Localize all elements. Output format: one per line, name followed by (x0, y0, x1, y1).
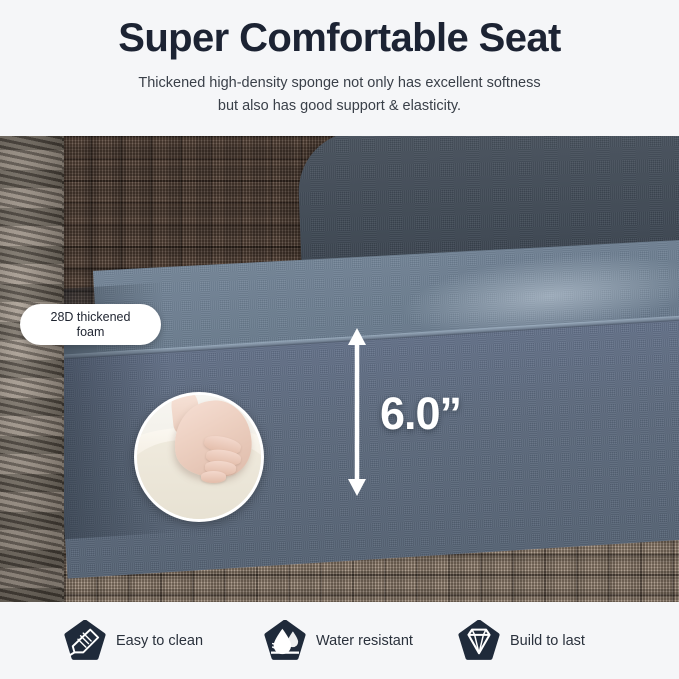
feature-label-water-resistant: Water resistant (316, 633, 413, 649)
page-title: Super Comfortable Seat (0, 14, 679, 62)
foam-callout-line-2: foam (77, 325, 105, 339)
foam-callout-line-1: 28D thickened (51, 310, 131, 324)
feature-bar: Easy to clean Water resistant Build to l… (0, 602, 679, 679)
feature-easy-to-clean: Easy to clean (64, 620, 203, 662)
diamond-icon (458, 620, 500, 662)
foam-callout-pill: 28D thickened foam (20, 304, 161, 345)
product-photo: 28D thickened foam 6.0” (0, 136, 679, 602)
product-feature-banner: Super Comfortable Seat Thickened high-de… (0, 0, 679, 679)
dimension-label: 6.0” (380, 388, 461, 440)
wicker-arm-post (0, 136, 64, 602)
water-drop-icon (264, 620, 306, 662)
page-subtitle: Thickened high-density sponge not only h… (0, 72, 679, 118)
subtitle-line-1: Thickened high-density sponge not only h… (0, 72, 679, 95)
foam-callout-text: 28D thickened foam (41, 310, 141, 340)
finger-4 (201, 471, 226, 483)
feature-label-build-to-last: Build to last (510, 633, 585, 649)
header-section: Super Comfortable Seat Thickened high-de… (0, 0, 679, 136)
feature-build-to-last: Build to last (458, 620, 585, 662)
feature-label-easy-to-clean: Easy to clean (116, 633, 203, 649)
wipe-cloth-icon (64, 620, 106, 662)
dimension-arrow-icon (340, 326, 374, 498)
feature-water-resistant: Water resistant (264, 620, 413, 662)
subtitle-line-2: but also has good support & elasticity. (0, 95, 679, 118)
foam-inset-photo (134, 392, 264, 522)
